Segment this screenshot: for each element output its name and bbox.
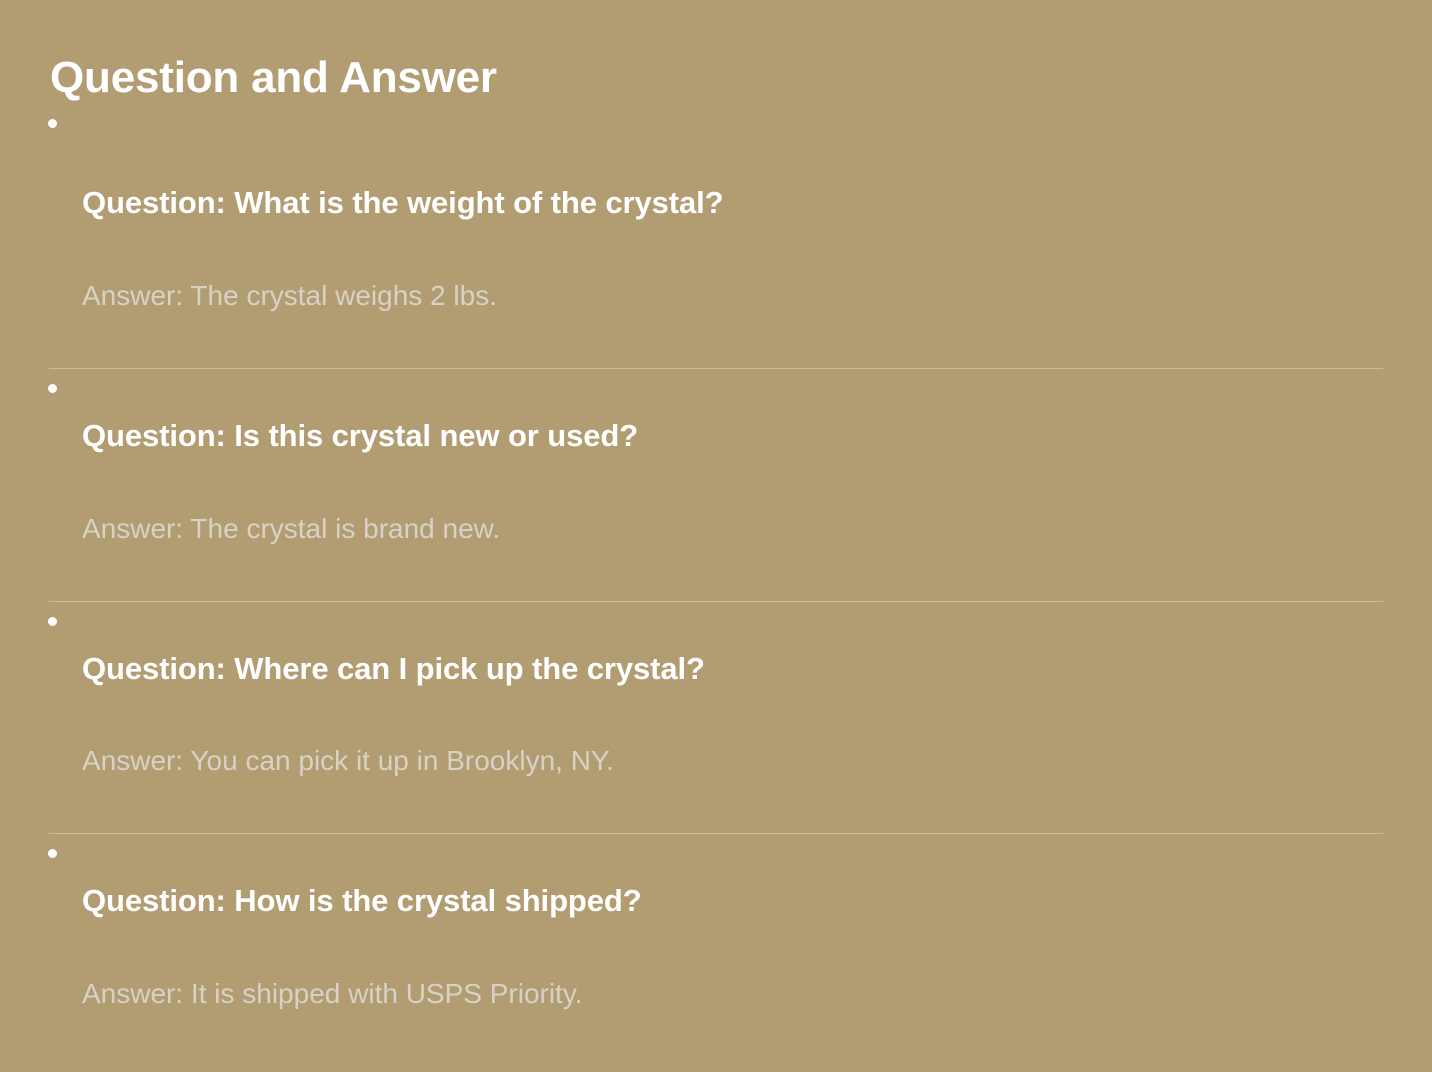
qa-question-text: Question: Is this crystal new or used? [82, 417, 1384, 455]
list-item: Question: How is the crystal shipped? An… [0, 834, 1432, 1011]
qa-question-row: Question: What is the weight of the crys… [0, 104, 1432, 222]
qa-question-text: Question: Where can I pick up the crysta… [82, 650, 1384, 688]
list-item: Question: Where can I pick up the crysta… [0, 602, 1432, 835]
list-item: Question: Is this crystal new or used? A… [0, 369, 1432, 602]
qa-question-row: Question: Where can I pick up the crysta… [0, 602, 1432, 688]
qa-answer-text: Answer: The crystal weighs 2 lbs. [0, 222, 1432, 313]
qa-answer-text: Answer: The crystal is brand new. [0, 455, 1432, 546]
list-item: Question: What is the weight of the crys… [0, 104, 1432, 369]
question-and-answer-panel: Question and Answer Question: What is th… [0, 0, 1432, 1072]
qa-question-text: Question: What is the weight of the crys… [82, 184, 1384, 222]
bullet-icon [48, 384, 57, 393]
qa-question-row: Question: Is this crystal new or used? [0, 369, 1432, 455]
page-title: Question and Answer [0, 0, 1432, 104]
bullet-icon [48, 119, 57, 128]
bullet-icon [48, 849, 57, 858]
qa-list: Question: What is the weight of the crys… [0, 104, 1432, 1011]
qa-question-row: Question: How is the crystal shipped? [0, 834, 1432, 920]
qa-question-text: Question: How is the crystal shipped? [82, 882, 1384, 920]
bullet-icon [48, 617, 57, 626]
qa-answer-text: Answer: You can pick it up in Brooklyn, … [0, 687, 1432, 778]
qa-answer-text: Answer: It is shipped with USPS Priority… [0, 920, 1432, 1011]
